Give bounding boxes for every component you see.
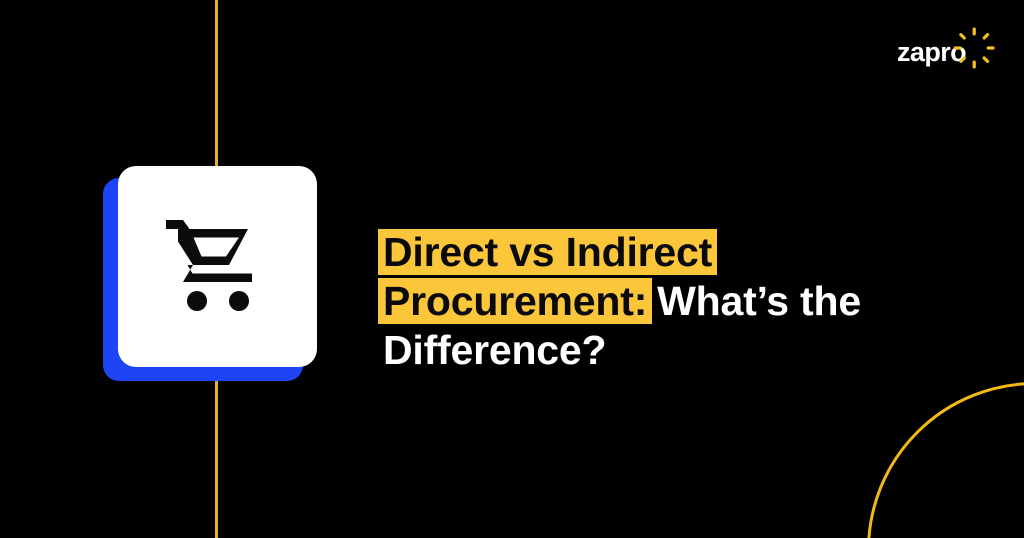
promo-banner: zapro <box>0 0 1024 538</box>
yellow-circle-outline <box>867 382 1024 538</box>
headline-segment-highlight: Direct vs Indirect <box>378 229 717 275</box>
shopping-cart-icon <box>166 220 270 314</box>
sunburst-icon <box>952 26 996 70</box>
brand-logo[interactable]: zapro <box>897 30 966 74</box>
icon-card-stack <box>103 166 317 381</box>
headline-line-3: Difference? <box>378 326 898 375</box>
headline-line-2: Procurement:What’s the <box>378 277 898 326</box>
headline-segment-plain: Difference? <box>378 327 611 373</box>
headline-line-1: Direct vs Indirect <box>378 228 898 277</box>
headline-segment-highlight: Procurement: <box>378 278 652 324</box>
card-white-face <box>118 166 317 367</box>
headline: Direct vs Indirect Procurement:What’s th… <box>378 228 898 375</box>
headline-segment-plain: What’s the <box>652 278 866 324</box>
